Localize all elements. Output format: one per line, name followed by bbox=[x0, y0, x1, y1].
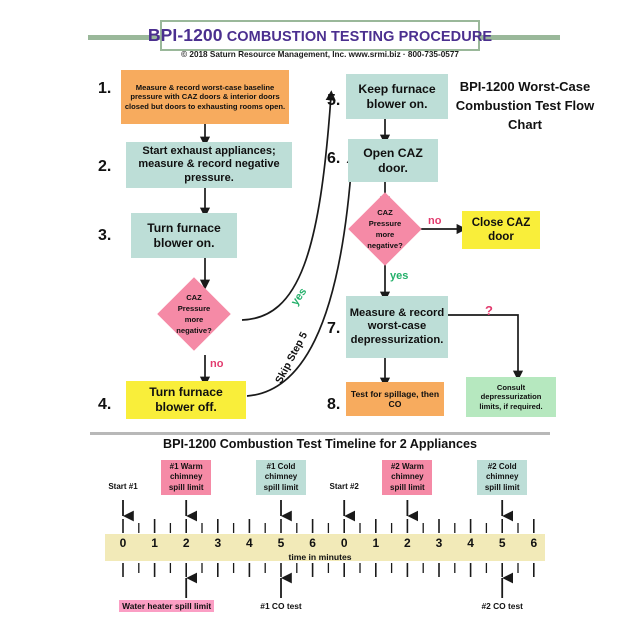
timeline-tick-number: 3 bbox=[430, 536, 448, 550]
timeline-tick-number: 2 bbox=[398, 536, 416, 550]
timeline-tick-number: 6 bbox=[525, 536, 543, 550]
timeline-top-label: #1 Warm chimney spill limit bbox=[161, 460, 211, 495]
timeline-axis-caption: time in minutes bbox=[0, 552, 640, 562]
close-caz-door-box: Close CAZ door bbox=[462, 211, 540, 249]
step-box-6: Open CAZ door. bbox=[348, 139, 438, 182]
label-skip-step-5: Skip Step 5 bbox=[273, 330, 310, 386]
label-yes-left: yes bbox=[289, 286, 309, 308]
timeline-tick-number: 5 bbox=[272, 536, 290, 550]
step-number-1: 1. bbox=[98, 80, 111, 98]
consult-limits-box: Consult depressurization limits, if requ… bbox=[466, 377, 556, 417]
page-title: BPI-1200 COMBUSTION TESTING PROCEDURE bbox=[148, 25, 492, 46]
step-box-4: Turn furnace blower off. bbox=[126, 381, 246, 419]
timeline-top-label: #2 Cold chimney spill limit bbox=[477, 460, 527, 495]
timeline-top-label: #1 Cold chimney spill limit bbox=[256, 460, 306, 495]
step-number-2: 2. bbox=[98, 158, 111, 176]
step-number-4: 4. bbox=[98, 396, 111, 414]
step-box-7: Measure & record worst-case depressuriza… bbox=[346, 296, 448, 358]
timeline-top-label: #2 Warm chimney spill limit bbox=[382, 460, 432, 495]
step-box-2: Start exhaust appliances; measure & reco… bbox=[126, 142, 292, 188]
step-number-6: 6. bbox=[327, 150, 340, 168]
timeline-bottom-label: #2 CO test bbox=[478, 600, 525, 612]
step-box-1: Measure & record worst-case baseline pre… bbox=[121, 70, 289, 124]
step-box-8: Test for spillage, then CO bbox=[346, 382, 444, 416]
timeline-tick-number: 2 bbox=[177, 536, 195, 550]
timeline-tick-number: 4 bbox=[240, 536, 258, 550]
step-box-3: Turn furnace blower on. bbox=[131, 213, 237, 258]
timeline-bottom-label: #1 CO test bbox=[257, 600, 304, 612]
timeline-tick-number: 0 bbox=[335, 536, 353, 550]
timeline-title: BPI-1200 Combustion Test Timeline for 2 … bbox=[0, 437, 640, 451]
decision-diamond-mid-text: CAZ Pressure more negative? bbox=[359, 203, 411, 255]
timeline-tick-number: 1 bbox=[146, 536, 164, 550]
step-box-5: Keep furnace blower on. bbox=[346, 74, 448, 119]
timeline-tick-number: 4 bbox=[462, 536, 480, 550]
step-number-5: 5. bbox=[327, 92, 340, 110]
label-no-mid: no bbox=[428, 215, 441, 227]
label-question-mark: ? bbox=[485, 303, 493, 318]
decision-diamond-left: CAZ Pressure more negative? bbox=[168, 288, 220, 340]
header-title-box: BPI-1200 COMBUSTION TESTING PROCEDURE bbox=[160, 20, 480, 51]
timeline-bottom-label: Water heater spill limit bbox=[119, 600, 214, 612]
flowchart-right-title: BPI-1200 Worst-Case Combustion Test Flow… bbox=[450, 78, 600, 135]
timeline-tick-number: 5 bbox=[493, 536, 511, 550]
timeline-top-label: Start #1 bbox=[100, 480, 146, 494]
step-number-7: 7. bbox=[327, 320, 340, 338]
timeline-tick-number: 1 bbox=[367, 536, 385, 550]
step-number-3: 3. bbox=[98, 227, 111, 245]
timeline-divider bbox=[90, 432, 550, 435]
timeline-tick-number: 0 bbox=[114, 536, 132, 550]
copyright-line: © 2018 Saturn Resource Management, Inc. … bbox=[0, 50, 640, 59]
label-no-left: no bbox=[210, 358, 223, 370]
decision-diamond-mid: CAZ Pressure more negative? bbox=[359, 203, 411, 255]
timeline-tick-number: 6 bbox=[304, 536, 322, 550]
decision-diamond-left-text: CAZ Pressure more negative? bbox=[168, 288, 220, 340]
label-yes-mid: yes bbox=[390, 270, 408, 282]
timeline-top-label: Start #2 bbox=[321, 480, 367, 494]
flowchart-page: BPI-1200 COMBUSTION TESTING PROCEDURE © … bbox=[0, 0, 640, 640]
timeline-tick-number: 3 bbox=[209, 536, 227, 550]
step-number-8: 8. bbox=[327, 396, 340, 414]
